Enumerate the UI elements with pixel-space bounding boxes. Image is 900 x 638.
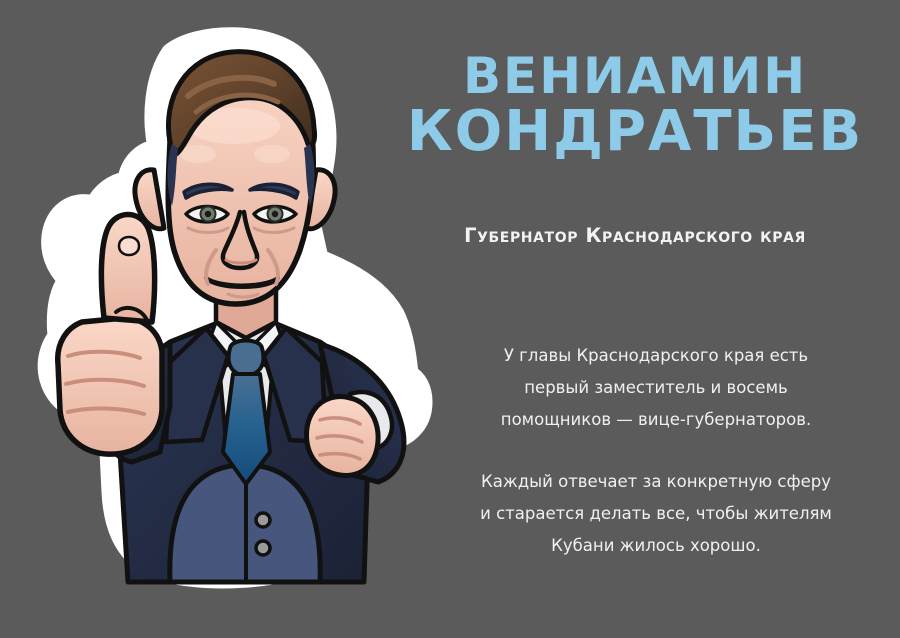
jacket-button-top	[256, 513, 270, 527]
head	[168, 52, 315, 304]
portrait-illustration	[20, 22, 440, 582]
poster-root: ВЕНИАМИН КОНДРАТЬЕВ Губернатор Краснодар…	[0, 0, 900, 638]
title-block: ВЕНИАМИН КОНДРАТЬЕВ	[400, 52, 870, 159]
last-name-heading: КОНДРАТЬЕВ	[400, 105, 870, 159]
paragraph-1: У главы Краснодарского края есть первый …	[476, 340, 836, 436]
text-column: ВЕНИАМИН КОНДРАТЬЕВ Губернатор Краснодар…	[400, 0, 900, 638]
jacket-button-bottom	[256, 541, 270, 555]
first-name-heading: ВЕНИАМИН	[400, 52, 870, 101]
paragraph-2: Каждый отвечает за конкретную сферу и ст…	[476, 466, 836, 562]
eye-left	[186, 207, 228, 222]
eye-right	[254, 207, 296, 222]
subtitle-position: Губернатор Краснодарского края	[400, 224, 870, 247]
body-text-block: У главы Краснодарского края есть первый …	[476, 340, 836, 562]
